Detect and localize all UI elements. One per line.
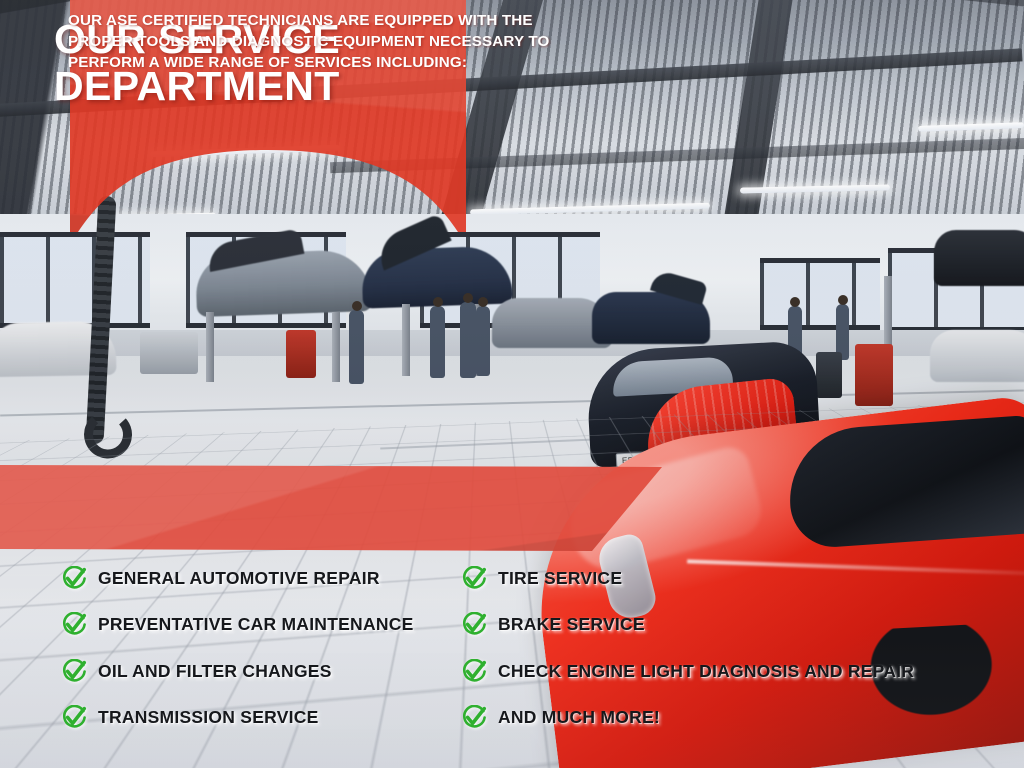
tool-cabinet — [855, 344, 893, 406]
workshop-window — [760, 258, 880, 330]
subtitle-band-sheen — [0, 465, 662, 551]
check-circle-icon — [62, 659, 87, 684]
technician — [460, 302, 476, 378]
service-item[interactable]: OIL AND FILTER CHANGES — [62, 656, 332, 686]
vehicle-lift-post — [402, 304, 410, 376]
service-department-poster: EB 20-UAJ OUR SERVICE DEPARTMENT OUR ASE… — [0, 0, 1024, 768]
technician — [430, 306, 445, 378]
subtitle-line-2: PROPER TOOLS AND DIAGNOSTIC EQUIPMENT NE… — [68, 32, 628, 53]
services-checklist: GENERAL AUTOMOTIVE REPAIRPREVENTATIVE CA… — [0, 552, 1024, 768]
check-circle-icon — [62, 705, 87, 730]
service-item[interactable]: TRANSMISSION SERVICE — [62, 703, 319, 733]
vehicle-lift-post — [332, 312, 340, 382]
check-circle-icon — [462, 705, 487, 730]
check-circle-icon — [62, 612, 87, 637]
subtitle-line-1: OUR ASE CERTIFIED TECHNICIANS ARE EQUIPP… — [68, 11, 628, 32]
service-item-label: OIL AND FILTER CHANGES — [98, 661, 332, 682]
subtitle-band — [0, 465, 662, 551]
technician — [349, 310, 364, 384]
vehicle-lift-post — [206, 312, 214, 382]
service-item-label: TIRE SERVICE — [498, 568, 622, 589]
workshop-window — [0, 232, 150, 328]
car-on-lift — [195, 249, 373, 317]
car-windshield — [785, 415, 1024, 550]
parked-car — [592, 292, 710, 344]
service-item-label: AND MUCH MORE! — [498, 707, 660, 728]
service-item-label: BRAKE SERVICE — [498, 614, 645, 635]
check-circle-icon — [62, 566, 87, 591]
service-item-label: GENERAL AUTOMOTIVE REPAIR — [98, 568, 380, 589]
diagnostic-equipment — [816, 352, 842, 398]
service-item-label: TRANSMISSION SERVICE — [98, 707, 319, 728]
car-on-lift — [934, 230, 1024, 286]
tool-cabinet — [286, 330, 316, 378]
parked-car — [930, 330, 1024, 382]
workbench — [140, 332, 198, 374]
service-item[interactable]: TIRE SERVICE — [462, 563, 622, 593]
subtitle-line-3: PERFORM A WIDE RANGE OF SERVICES INCLUDI… — [68, 53, 628, 74]
service-item[interactable]: PREVENTATIVE CAR MAINTENANCE — [62, 610, 414, 640]
check-circle-icon — [462, 659, 487, 684]
technician — [476, 306, 490, 376]
service-item[interactable]: AND MUCH MORE! — [462, 703, 660, 733]
service-item[interactable]: CHECK ENGINE LIGHT DIAGNOSIS AND REPAIR — [462, 656, 914, 686]
service-item-label: PREVENTATIVE CAR MAINTENANCE — [98, 614, 414, 635]
subtitle-text: OUR ASE CERTIFIED TECHNICIANS ARE EQUIPP… — [68, 11, 628, 74]
check-circle-icon — [462, 612, 487, 637]
service-item[interactable]: GENERAL AUTOMOTIVE REPAIR — [62, 563, 380, 593]
check-circle-icon — [462, 566, 487, 591]
service-item-label: CHECK ENGINE LIGHT DIAGNOSIS AND REPAIR — [498, 661, 914, 682]
service-item[interactable]: BRAKE SERVICE — [462, 610, 645, 640]
